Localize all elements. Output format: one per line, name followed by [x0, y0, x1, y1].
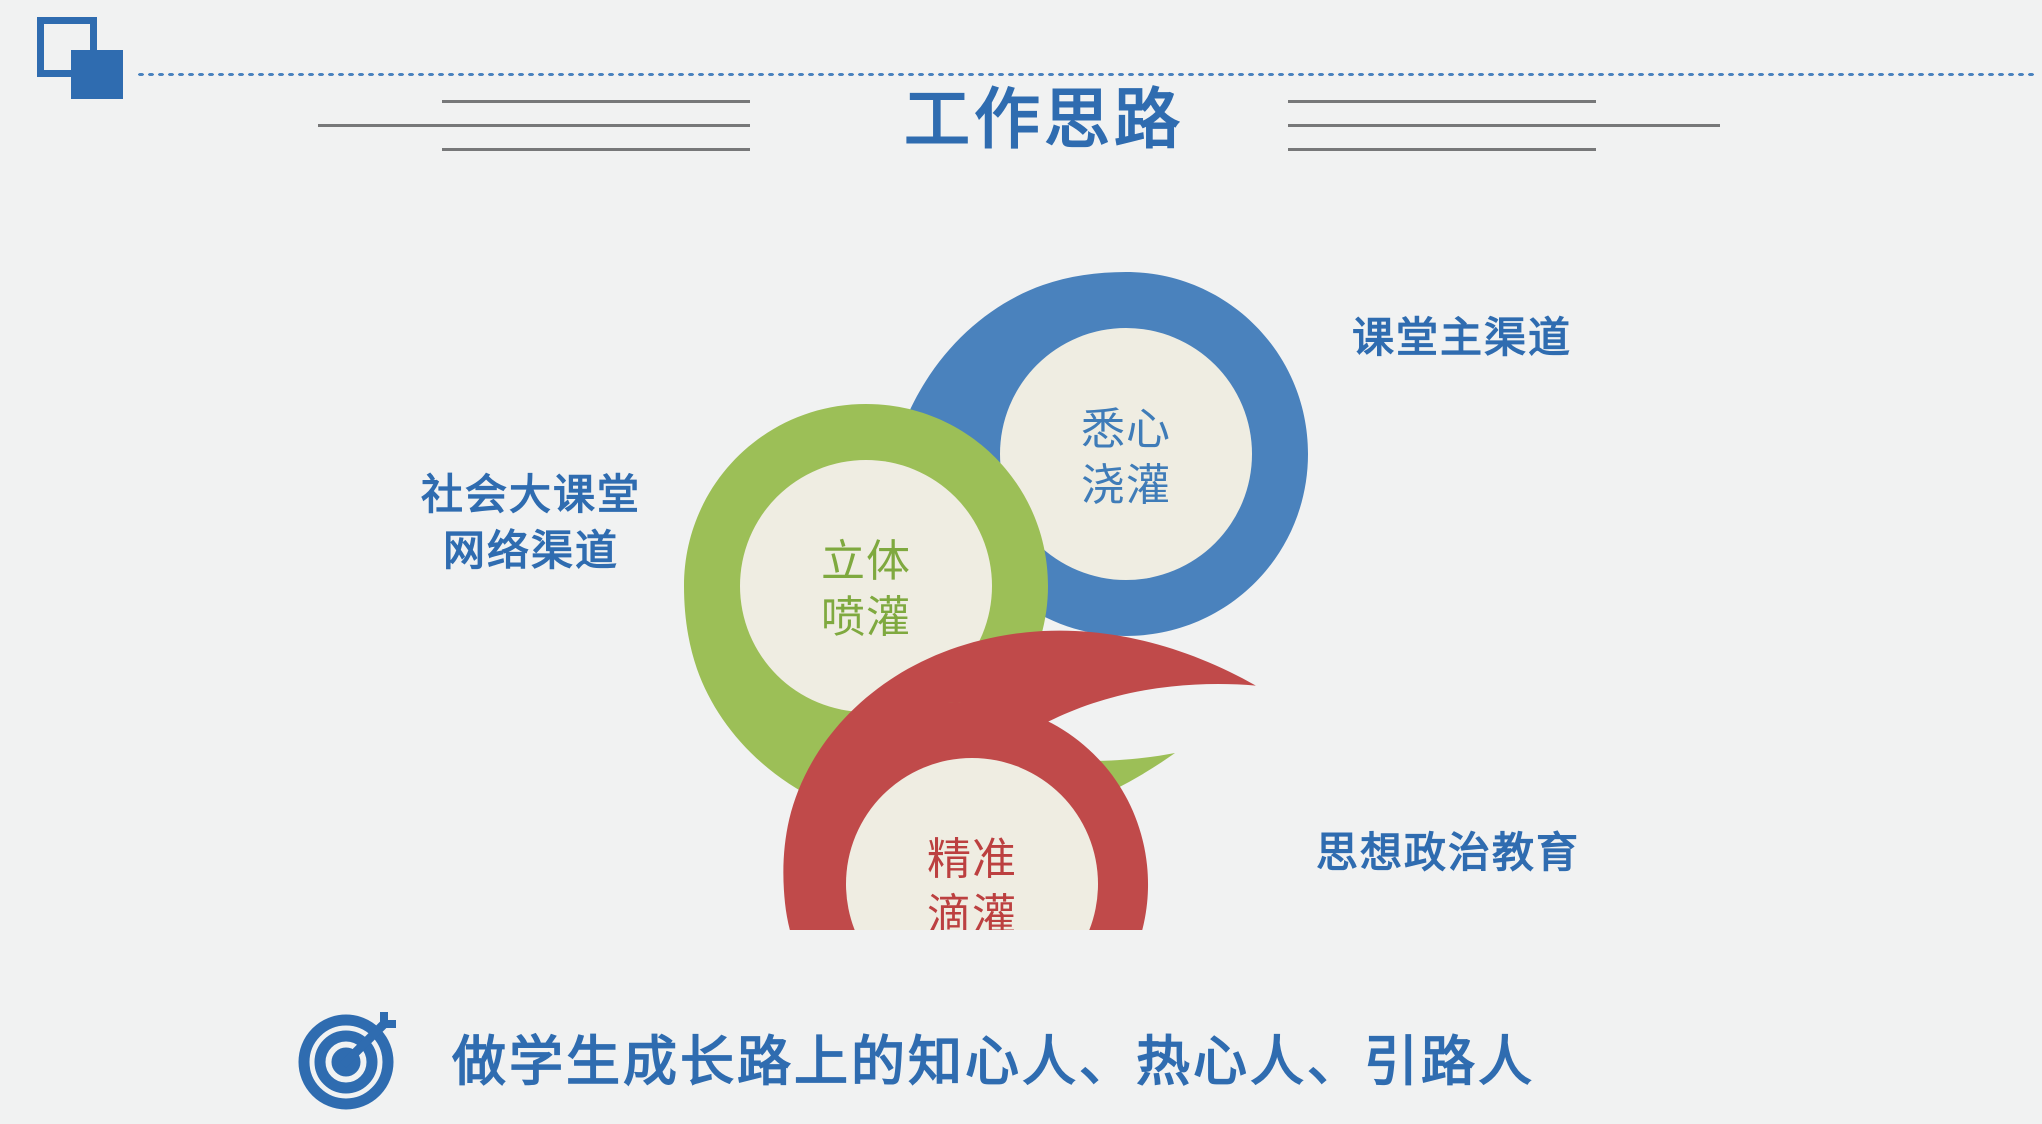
title-rules-left — [318, 100, 750, 152]
callout-bottom-right: 思想政治教育 — [1316, 825, 1580, 881]
target-bullseye-arrow-icon — [296, 1002, 404, 1110]
lobe-green-line2: 喷灌 — [821, 593, 911, 642]
pinwheel-diagram: 悉心 浇灌 立体 喷灌 精准 滴灌 — [660, 230, 1360, 930]
title-rules-right — [1288, 100, 1720, 152]
lobe-green-line1: 立体 — [821, 537, 911, 586]
callout-top-right: 课堂主渠道 — [1352, 310, 1572, 366]
slide-canvas: 工作思路 悉心 浇灌 立体 喷灌 — [0, 0, 2042, 1124]
overlapping-squares-logo — [26, 17, 136, 103]
title-rule-left-top — [442, 100, 750, 103]
title-rule-right-middle — [1288, 124, 1720, 127]
callout-left-line1: 社会大课堂 — [398, 467, 664, 523]
callout-left-line2: 网络渠道 — [398, 523, 664, 579]
title-rule-left-middle — [318, 124, 750, 127]
title-rule-right-top — [1288, 100, 1596, 103]
title-rule-right-bottom — [1288, 148, 1596, 151]
title-zone: 工作思路 — [0, 92, 2042, 174]
footer-banner: 做学生成长路上的知心人、热心人、引路人 — [296, 1000, 1535, 1112]
title-rule-left-bottom — [442, 148, 750, 151]
header-dotted-divider — [136, 72, 2034, 77]
footer-slogan: 做学生成长路上的知心人、热心人、引路人 — [452, 1017, 1535, 1096]
lobe-blue-line1: 悉心 — [1081, 405, 1171, 454]
lobe-red-line2: 滴灌 — [927, 891, 1017, 930]
lobe-red-line1: 精准 — [927, 835, 1017, 884]
page-title: 工作思路 — [884, 86, 1204, 152]
callout-left: 社会大课堂 网络渠道 — [398, 467, 664, 580]
lobe-blue-line2: 浇灌 — [1081, 461, 1171, 510]
